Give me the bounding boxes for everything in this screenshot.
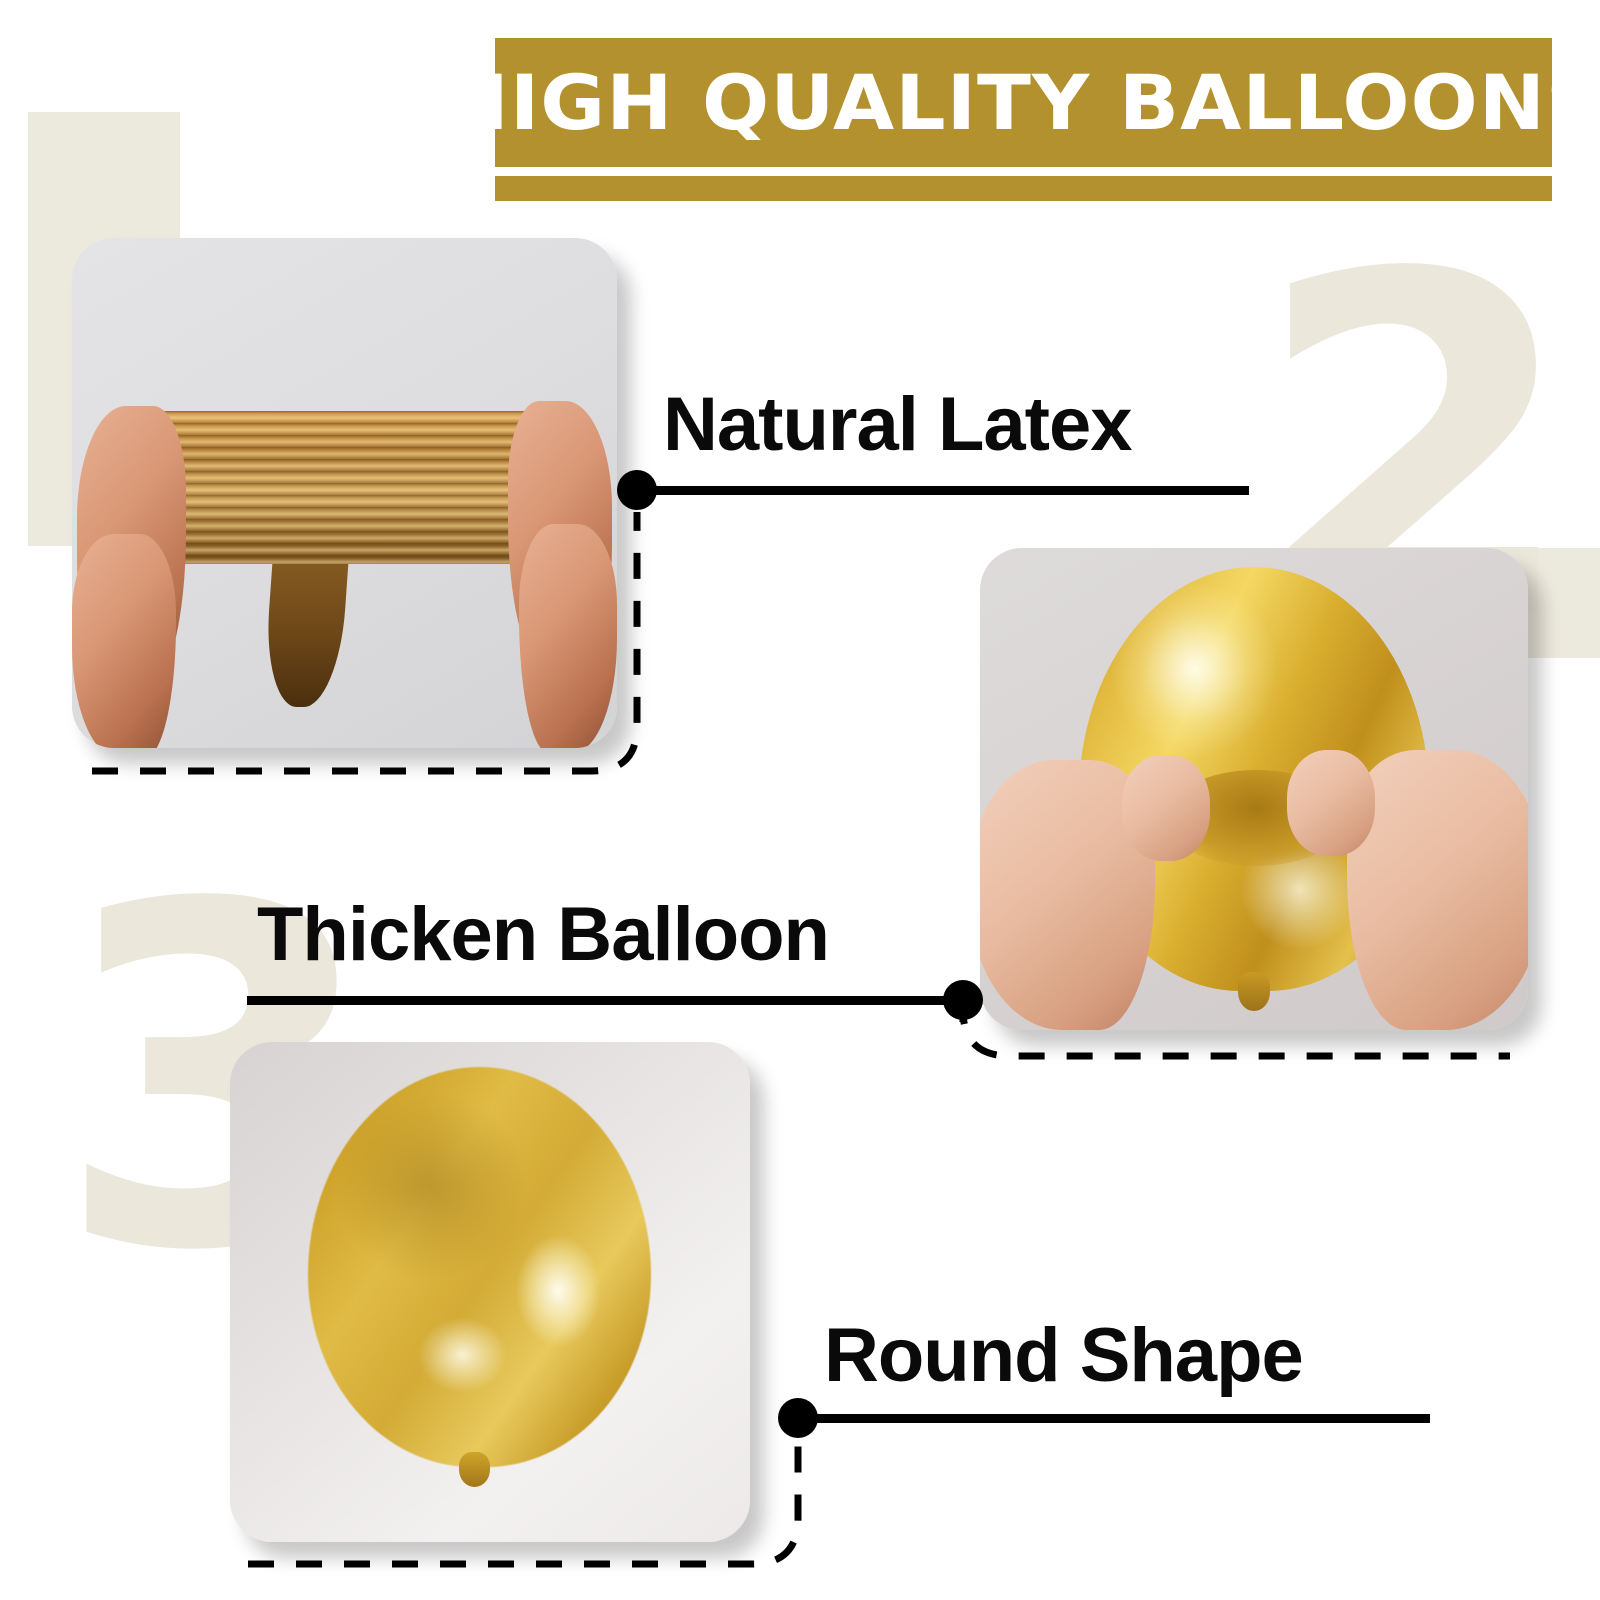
callout-rule-round-shape [798,1414,1430,1423]
feature-label-round-shape: Round Shape [824,1318,1303,1394]
callout-dot-round-shape [778,1398,818,1438]
callout-round-shape: Round Shape [0,0,1600,1600]
infographic-page: 2 3 HIGH QUALITY BALLOONS Natural Latex [0,0,1600,1600]
